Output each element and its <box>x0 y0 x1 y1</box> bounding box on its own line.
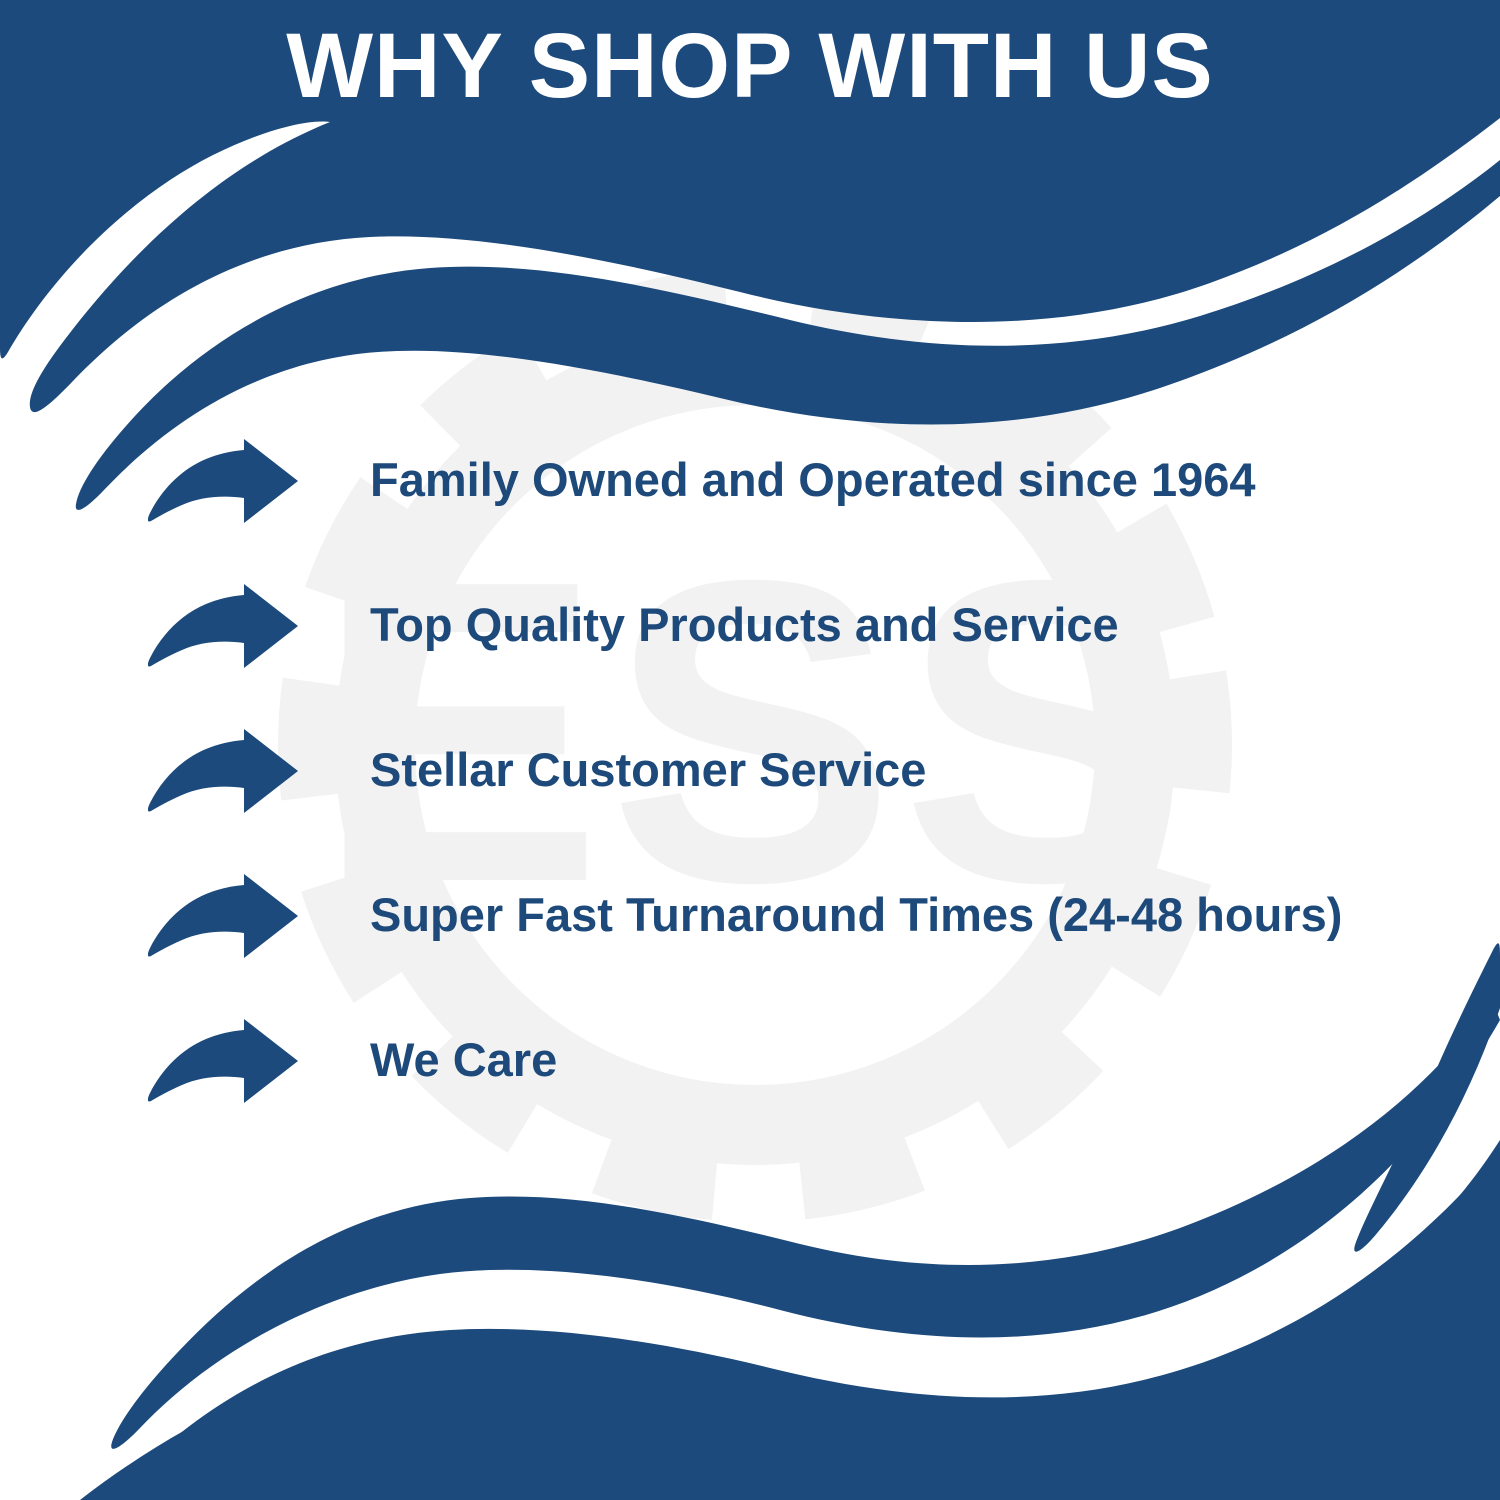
curved-right-arrow-icon <box>148 582 304 668</box>
list-item: Family Owned and Operated since 1964 <box>0 430 1500 530</box>
bottom-blue-footer-body <box>0 1140 1500 1500</box>
curved-right-arrow-icon <box>148 872 304 958</box>
benefits-list: Family Owned and Operated since 1964 Top… <box>0 430 1500 1110</box>
list-item: We Care <box>0 1010 1500 1110</box>
curved-right-arrow-icon <box>148 1017 304 1103</box>
list-item: Super Fast Turnaround Times (24-48 hours… <box>0 865 1500 965</box>
list-item-label: Super Fast Turnaround Times (24-48 hours… <box>370 887 1342 943</box>
list-item-label: Top Quality Products and Service <box>370 597 1119 653</box>
bottom-blue-footer-shape <box>110 1150 1500 1500</box>
curved-right-arrow-icon <box>148 727 304 813</box>
list-item: Top Quality Products and Service <box>0 575 1500 675</box>
list-item-label: We Care <box>370 1032 557 1088</box>
page-title: WHY SHOP WITH US <box>286 18 1214 114</box>
list-item-label: Family Owned and Operated since 1964 <box>370 452 1256 508</box>
header-bar: WHY SHOP WITH US <box>0 18 1500 114</box>
promo-banner: ESS WHY SHOP WITH US Family Owned and Op… <box>0 0 1500 1500</box>
list-item: Stellar Customer Service <box>0 720 1500 820</box>
list-item-label: Stellar Customer Service <box>370 742 926 798</box>
curved-right-arrow-icon <box>148 437 304 523</box>
